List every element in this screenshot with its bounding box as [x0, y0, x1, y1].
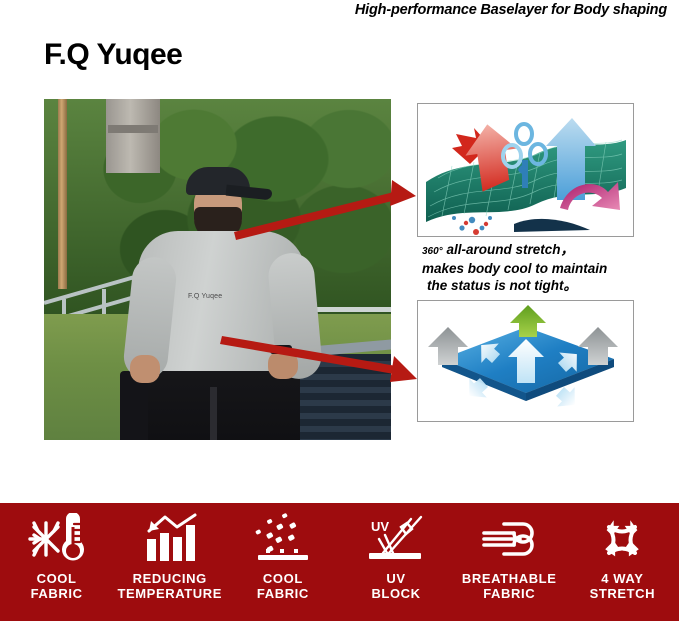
feature-breathable-fabric: BREATHABLEFABRIC — [454, 511, 564, 601]
feature-label: REDUCINGTEMPERATURE — [117, 571, 222, 601]
feature-label: 4 WAYSTRETCH — [590, 571, 656, 601]
droplet-spray-icon — [254, 511, 312, 567]
caption-line-1: all-around stretch， — [443, 242, 574, 257]
brand-title: F.Q Yuqee — [44, 38, 182, 72]
stretch-panel — [417, 103, 634, 237]
chest-logo: F.Q Yuqee — [188, 293, 222, 300]
feature-uv-block: UV UVBLOCK — [341, 511, 451, 601]
caption-degree: 360° — [422, 246, 443, 257]
feature-bar: COOLFABRIC REDUCINGTEMPERATURE — [0, 503, 679, 621]
feature-label: COOLFABRIC — [257, 571, 309, 601]
stretch-caption: 360° all-around stretch， makes body cool… — [422, 241, 652, 294]
caption-line-2: makes body cool to maintain — [422, 260, 652, 277]
feature-label: UVBLOCK — [371, 571, 420, 601]
feature-reducing-temperature: REDUCINGTEMPERATURE — [115, 511, 225, 601]
bar-chart-down-arrow-icon — [141, 511, 199, 567]
wooden-pole — [58, 99, 67, 289]
model-right-hand — [268, 351, 298, 379]
model-figure: F.Q Yuqee — [122, 159, 322, 440]
feature-cool-fabric-2: COOLFABRIC — [228, 511, 338, 601]
baseball-cap — [186, 167, 250, 195]
feature-four-way-stretch: 4 WAYSTRETCH — [567, 511, 677, 601]
feature-label: COOLFABRIC — [31, 571, 83, 601]
tagline: High-performance Baselayer for Body shap… — [355, 2, 667, 18]
breathable-panel — [417, 300, 634, 422]
snowflake-thermometer-icon — [28, 511, 86, 567]
product-photo: F.Q Yuqee — [44, 99, 391, 440]
wristwatch — [270, 345, 292, 354]
caption-line-3: the status is not tight。 — [422, 277, 652, 294]
feature-cool-fabric-1: COOLFABRIC — [2, 511, 112, 601]
model-left-hand — [130, 355, 160, 383]
svg-text:UV: UV — [371, 519, 389, 534]
stretch-diagram — [418, 104, 633, 236]
breathable-diagram — [418, 301, 633, 421]
four-way-stretch-icon — [593, 511, 651, 567]
uv-block-icon: UV — [367, 511, 425, 567]
wind-breathable-icon — [480, 511, 538, 567]
feature-label: BREATHABLEFABRIC — [462, 571, 557, 601]
